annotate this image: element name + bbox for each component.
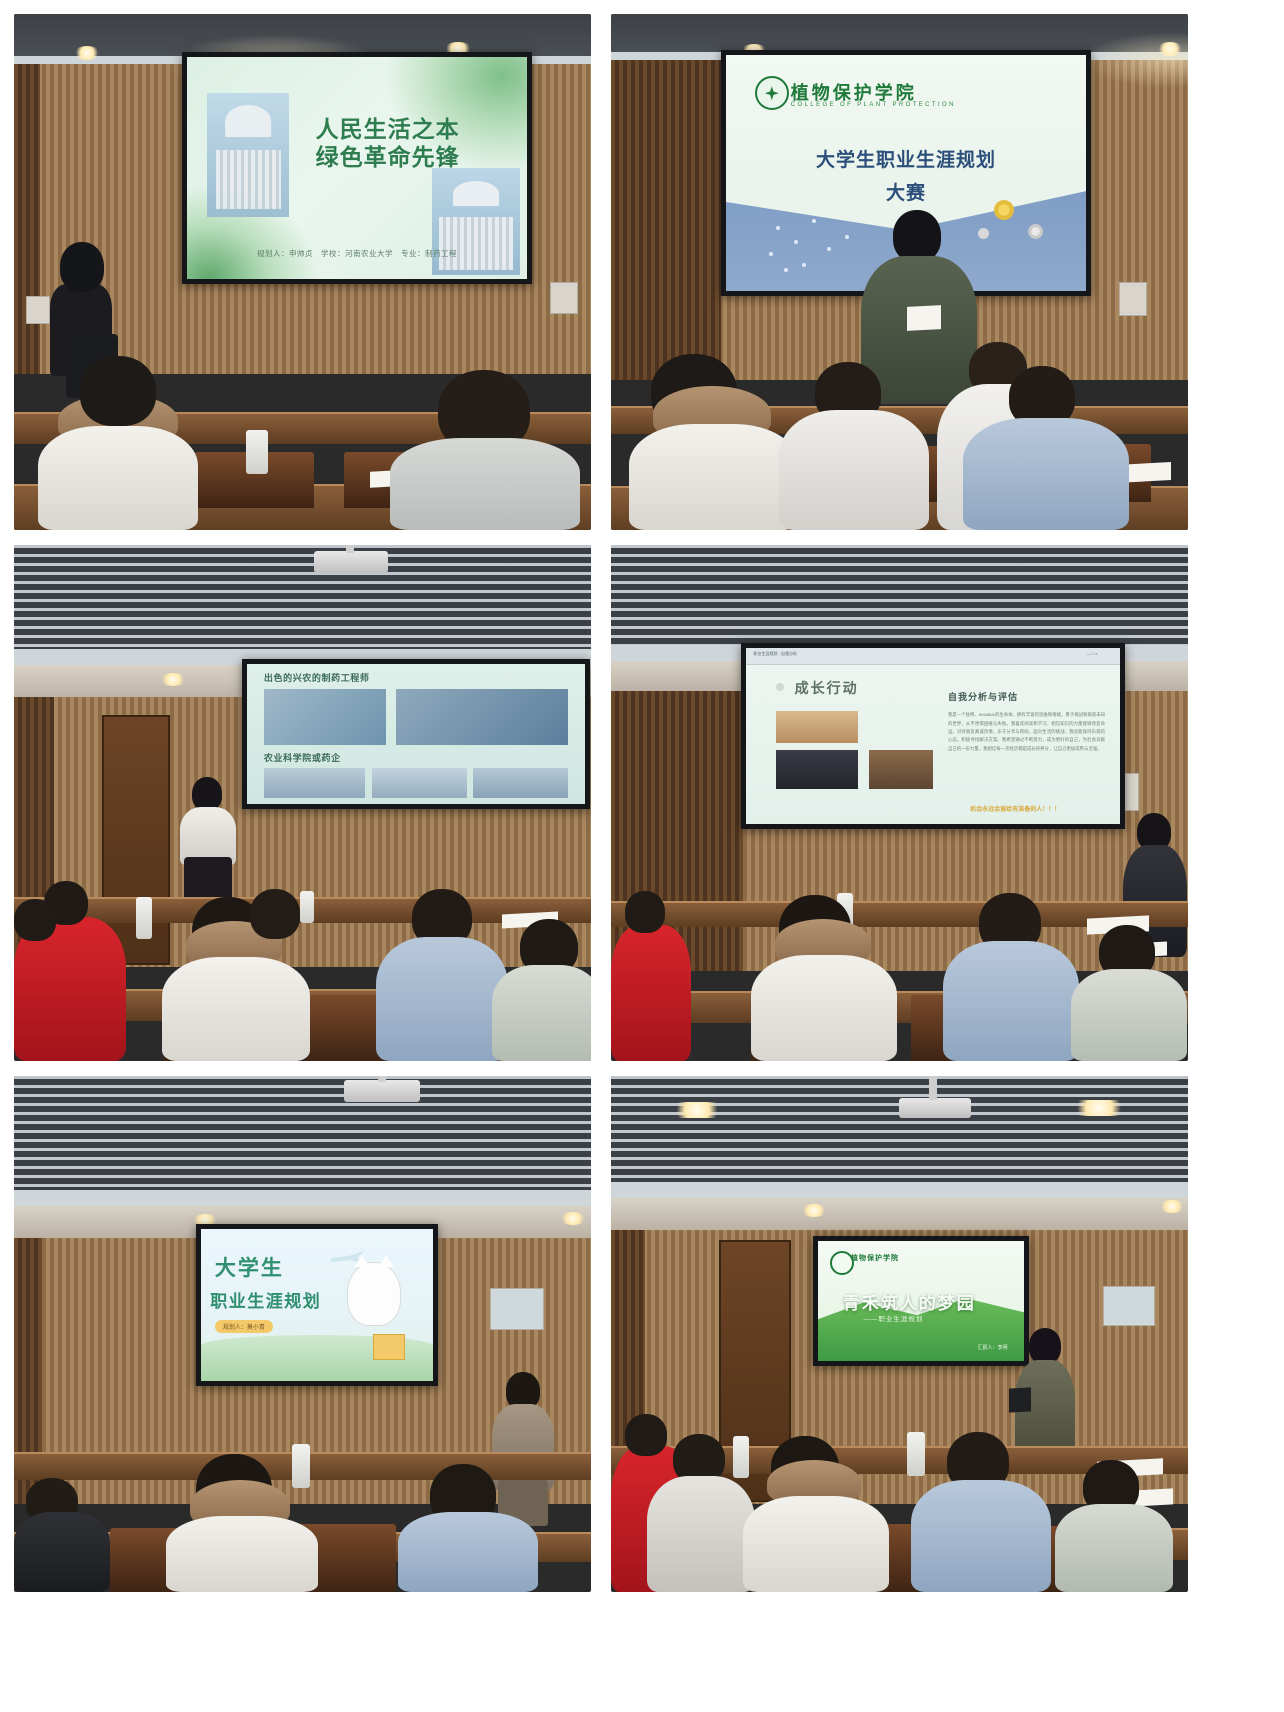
photo-panel-3: 出色的兴农的制药工程师 农业科学院或药企 xyxy=(14,545,591,1061)
presenter-script xyxy=(907,305,941,331)
audience-body xyxy=(743,1496,889,1592)
water-bottle xyxy=(292,1444,310,1488)
ceiling-slats xyxy=(14,545,591,649)
slide-5: 大学生 职业生涯规划 规划人：莫小青 xyxy=(201,1229,433,1381)
downlight-icon xyxy=(801,1204,827,1217)
projector xyxy=(344,1080,420,1102)
wall-side xyxy=(611,60,721,380)
ceiling-band xyxy=(14,1190,591,1206)
audience-head xyxy=(80,356,156,426)
wall-panel[interactable] xyxy=(490,1288,544,1330)
wall-upper xyxy=(611,1198,1188,1232)
ceiling-light xyxy=(671,1102,723,1118)
slide-4: 职业生涯规划 - 自我分析 — □ × 成长行动 自我分析与评估 我是一个独特、… xyxy=(746,648,1120,824)
slide-section-title: 自我分析与评估 xyxy=(948,690,1018,703)
gear-icon xyxy=(978,228,989,239)
ceiling-band xyxy=(611,1182,1188,1198)
projection-screen-1: 人民生活之本 绿色革命先锋 规划人：申帅贞 学校：河南农业大学 专业：制药工程 xyxy=(182,52,532,284)
audience-body xyxy=(911,1480,1051,1592)
slide-body-text: 我是一个独特、независ的生命体，拥有丰富的思维和情绪。勇于挑战和探索未知的… xyxy=(948,711,1105,753)
slide-photo-lab xyxy=(264,689,386,745)
water-bottle xyxy=(733,1436,749,1478)
audience-body xyxy=(1071,969,1187,1061)
wall-panel[interactable] xyxy=(1103,1286,1155,1326)
browser-tab-label: 职业生涯规划 - 自我分析 xyxy=(753,651,797,657)
audience-head xyxy=(250,889,300,939)
slide-title-line2: 大赛 xyxy=(748,178,1065,205)
audience-body xyxy=(647,1476,755,1592)
browser-controls[interactable]: — □ × xyxy=(1087,651,1098,656)
slide-title-line1: 大学生 xyxy=(215,1252,284,1282)
audience-body xyxy=(376,937,508,1061)
water-bottle xyxy=(136,897,152,939)
downlight-icon xyxy=(1159,1200,1185,1213)
downlight-icon xyxy=(74,46,100,60)
slide-heading: 成长行动 xyxy=(795,678,859,698)
photo-panel-4: 职业生涯规划 - 自我分析 — □ × 成长行动 自我分析与评估 我是一个独特、… xyxy=(611,545,1188,1061)
audience-body xyxy=(1055,1504,1173,1592)
presenter-device xyxy=(1009,1387,1031,1412)
wall-panel[interactable] xyxy=(550,282,578,314)
audience-head xyxy=(625,891,665,933)
institute-name-en: COLLEGE OF PLANT PROTECTION xyxy=(791,102,956,108)
slide-heading-top: 出色的兴农的制药工程师 xyxy=(264,671,370,684)
slide-6: 植物保护学院 青禾筑人的梦园 ——职业生涯规划 汇报人：李明 xyxy=(818,1241,1024,1361)
downlight-icon xyxy=(560,1212,586,1225)
slide-title-line2: 职业生涯规划 xyxy=(210,1287,321,1312)
projector-mount xyxy=(346,545,354,553)
audience-body xyxy=(166,1516,318,1592)
browser-bar: 职业生涯规划 - 自我分析 — □ × xyxy=(746,648,1120,665)
projection-screen-5: 大学生 职业生涯规划 规划人：莫小青 xyxy=(196,1224,438,1386)
bullet-icon xyxy=(776,683,784,691)
slide-photo-factory xyxy=(396,689,568,745)
college-logo-icon xyxy=(755,76,789,110)
slide-title: 人民生活之本 绿色革命先锋 xyxy=(289,115,486,173)
ceiling-slats xyxy=(611,545,1188,645)
water-bottle xyxy=(246,430,268,474)
slide-subtitle: 规划人：申帅贞 学校：河南农业大学 专业：制药工程 xyxy=(214,248,500,259)
slide-3: 出色的兴农的制药工程师 农业科学院或药企 xyxy=(247,664,585,804)
audience-head xyxy=(625,1414,667,1456)
institute-name-cn: 植物保护学院 xyxy=(791,79,917,105)
projection-screen-6: 植物保护学院 青禾筑人的梦园 ——职业生涯规划 汇报人：李明 xyxy=(813,1236,1029,1366)
slide-note: 机会永远会留给有准备的人！！！ xyxy=(926,804,1106,813)
wall-switch[interactable] xyxy=(26,296,50,324)
photo-panel-5: 大学生 职业生涯规划 规划人：莫小青 xyxy=(14,1076,591,1592)
water-bottle xyxy=(907,1432,925,1476)
ceiling-light xyxy=(1071,1100,1127,1116)
projection-screen-3: 出色的兴农的制药工程师 农业科学院或药企 xyxy=(242,659,590,809)
presenter-head xyxy=(192,777,222,811)
audience-head xyxy=(14,899,56,941)
water-bottle xyxy=(300,891,314,923)
building-photo-left xyxy=(207,93,289,217)
projection-screen-4: 职业生涯规划 - 自我分析 — □ × 成长行动 自我分析与评估 我是一个独特、… xyxy=(741,643,1125,829)
presenter-head xyxy=(893,210,941,262)
slide-photo-c xyxy=(264,768,365,799)
audience-body xyxy=(162,957,310,1061)
audience-body xyxy=(963,418,1129,530)
audience-body xyxy=(629,424,799,530)
slide-subtitle: ——职业生涯规划 xyxy=(863,1313,923,1323)
photo-panel-6: 植物保护学院 青禾筑人的梦园 ——职业生涯规划 汇报人：李明 xyxy=(611,1076,1188,1592)
slide-photo-a xyxy=(776,711,858,743)
projector xyxy=(899,1098,971,1118)
slide-1: 人民生活之本 绿色革命先锋 规划人：申帅贞 学校：河南农业大学 专业：制药工程 xyxy=(187,57,527,279)
audience-body xyxy=(751,955,897,1061)
presenter-head xyxy=(1029,1328,1061,1364)
slide-title-line1: 大学生职业生涯规划 xyxy=(748,145,1065,172)
downlight-icon xyxy=(160,673,186,686)
photo-panel-2: 植物保护学院 COLLEGE OF PLANT PROTECTION 大学生职业… xyxy=(611,14,1188,530)
audience-body xyxy=(492,965,591,1061)
slide-photo-e xyxy=(473,768,568,799)
audience-body-red xyxy=(611,925,691,1061)
projector-mount xyxy=(929,1076,937,1100)
institute-name-cn: 植物保护学院 xyxy=(851,1253,899,1263)
projector-mount xyxy=(378,1076,386,1082)
wall-panel[interactable] xyxy=(1119,282,1147,316)
gear-icon xyxy=(1028,224,1043,239)
cat-illustration-icon xyxy=(347,1262,401,1326)
photo-collage: 人民生活之本 绿色革命先锋 规划人：申帅贞 学校：河南农业大学 专业：制药工程 xyxy=(0,0,1284,1712)
photo-panel-1: 人民生活之本 绿色革命先锋 规划人：申帅贞 学校：河南农业大学 专业：制药工程 xyxy=(14,14,591,530)
slide-footer: 汇报人：李明 xyxy=(978,1344,1008,1351)
audience-body xyxy=(14,1512,110,1592)
slide-badge: 规划人：莫小青 xyxy=(215,1320,273,1333)
box-illustration-icon xyxy=(373,1334,405,1360)
audience-body xyxy=(943,941,1079,1061)
audience-body xyxy=(38,426,198,530)
projector xyxy=(314,551,388,573)
wall-side xyxy=(14,64,40,374)
ceiling-slats xyxy=(611,1076,1188,1182)
slide-photo-b xyxy=(776,750,858,789)
audience-body xyxy=(398,1512,538,1592)
ceiling-slats xyxy=(14,1076,591,1190)
slide-photo-c xyxy=(869,750,933,789)
presenter-head xyxy=(60,242,104,292)
slide-heading-bottom: 农业科学院或药企 xyxy=(264,751,341,764)
slide-photo-d xyxy=(372,768,467,799)
slide-title: 青禾筑人的梦园 xyxy=(843,1289,976,1314)
audience-body xyxy=(390,438,580,530)
audience-body xyxy=(779,410,929,530)
